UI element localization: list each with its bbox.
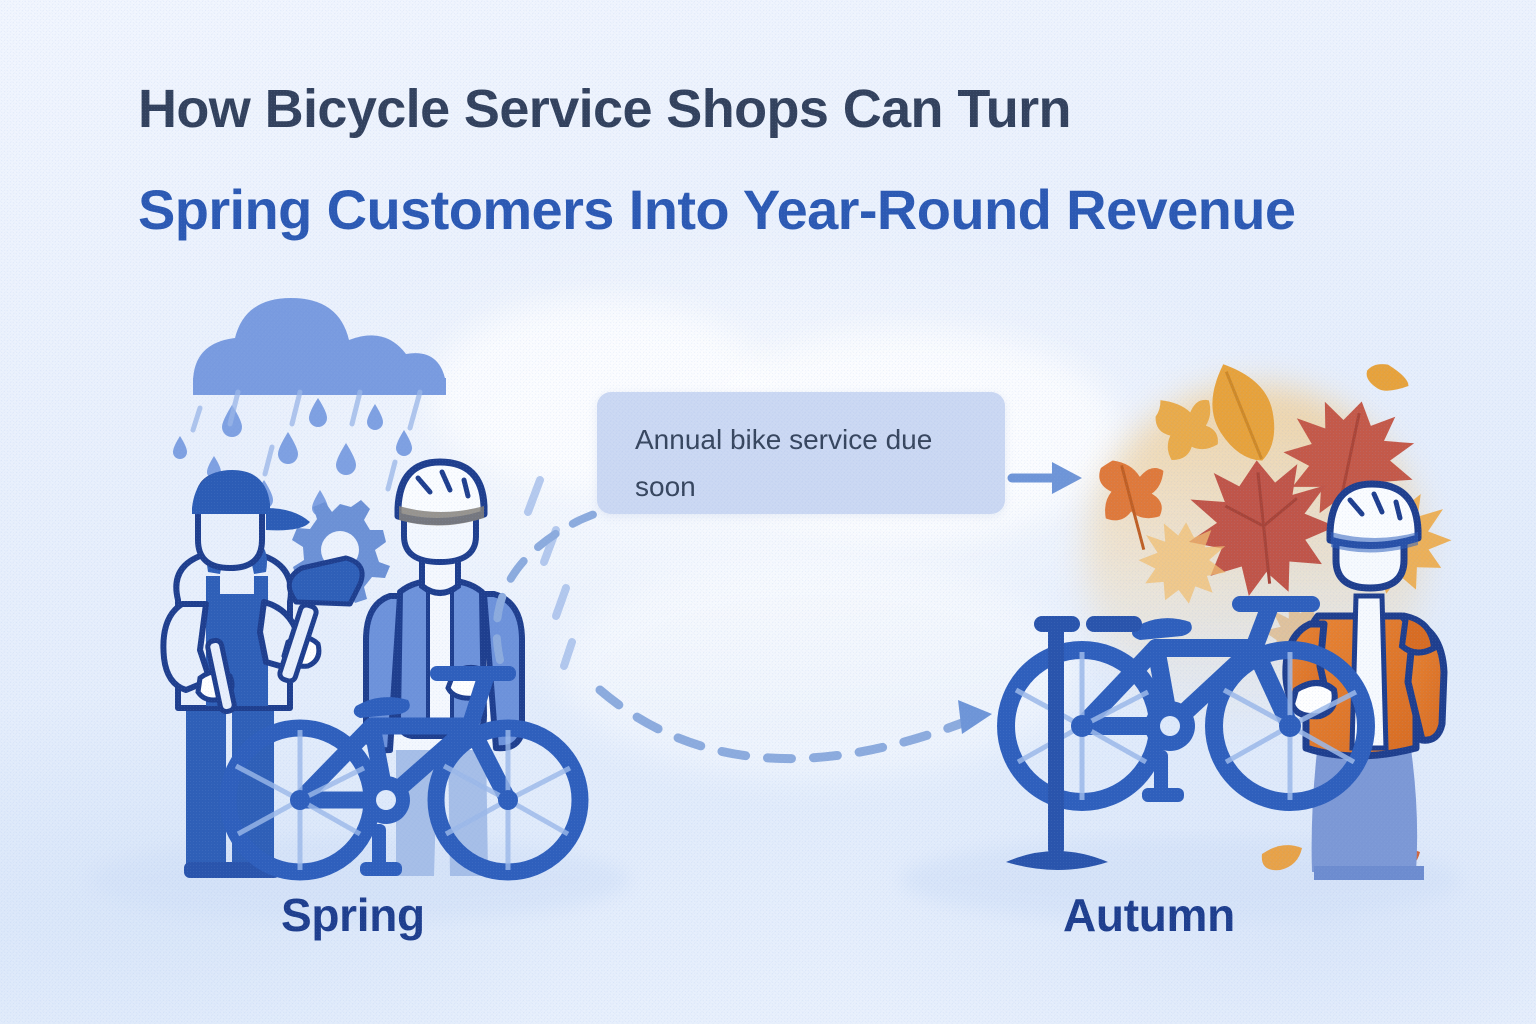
rain-streaks-drift [528, 480, 572, 666]
callout-text: Annual bike service due soon [635, 416, 975, 510]
callout-exit-arrow [1012, 462, 1082, 494]
lower-dashed-arrow [600, 690, 992, 759]
season-label-autumn: Autumn [1063, 888, 1235, 942]
title-line-1: How Bicycle Service Shops Can Turn [138, 78, 1458, 140]
title-line-2: Spring Customers Into Year-Round Revenue [138, 178, 1458, 242]
callout-bubble: Annual bike service due soon [597, 392, 1005, 514]
upper-dashed-arrow [497, 490, 690, 660]
infographic-canvas: How Bicycle Service Shops Can Turn Sprin… [0, 0, 1536, 1024]
page-title: How Bicycle Service Shops Can Turn Sprin… [138, 78, 1458, 242]
season-label-spring: Spring [281, 888, 425, 942]
